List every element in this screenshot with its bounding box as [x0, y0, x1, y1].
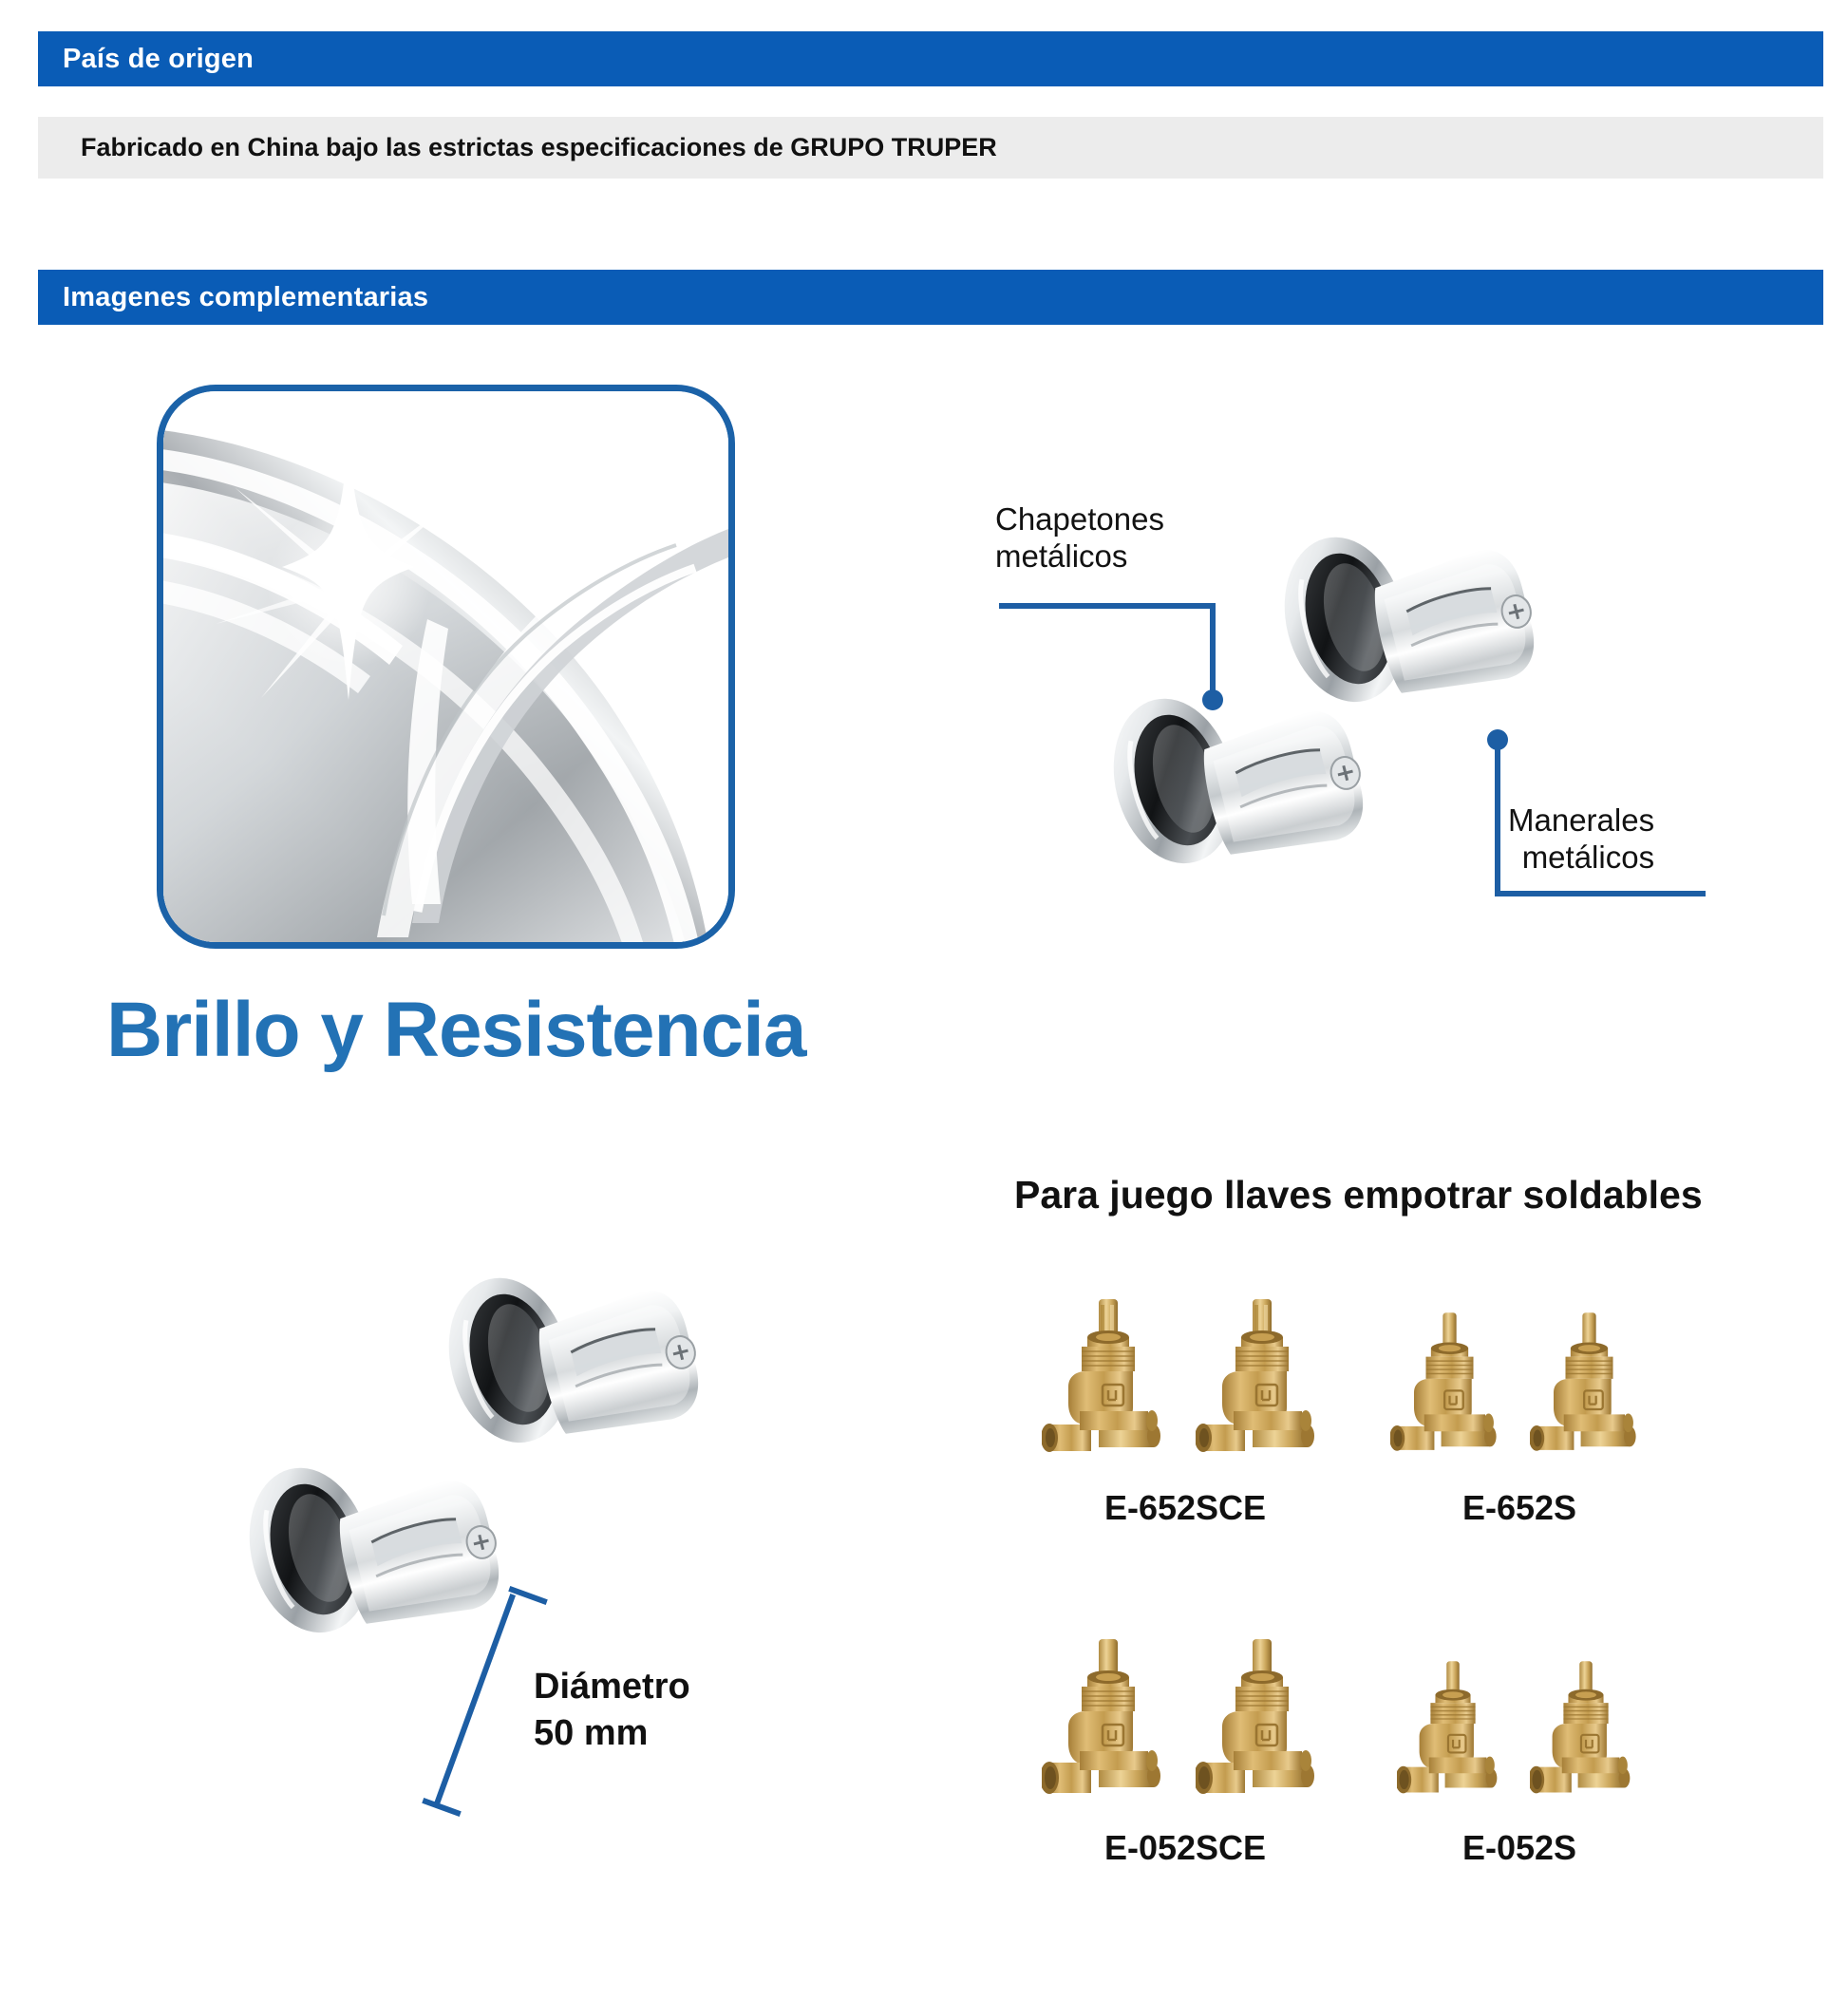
valve-code: E-052S [1358, 1828, 1681, 1868]
valve-code: E-652S [1358, 1488, 1681, 1528]
valves-heading: Para juego llaves empotrar soldables [1014, 1173, 1703, 1217]
brass-valve-icon [1358, 1292, 1681, 1458]
valve-code: E-652SCE [1024, 1488, 1347, 1528]
valve-group: E-652SCE [1024, 1292, 1347, 1528]
brass-valve-icon [1024, 1632, 1347, 1798]
section-banner-imagenes: Imagenes complementarias [38, 270, 1823, 325]
origin-note-row: Fabricado en China bajo las estrictas es… [38, 117, 1823, 179]
dimension-cap-bottom [422, 1798, 462, 1817]
brass-valve-icon [1358, 1632, 1681, 1798]
origin-note-text: Fabricado en China bajo las estrictas es… [38, 133, 997, 162]
brass-valve-icon [1024, 1292, 1347, 1458]
product-sheet-page: País de origen Fabricado en China bajo l… [0, 0, 1848, 2000]
leader-dot-chapetones [1202, 689, 1223, 710]
valve-code: E-052SCE [1024, 1828, 1347, 1868]
chrome-shine-icon [157, 385, 735, 949]
valve-group: E-652S [1358, 1292, 1681, 1528]
leader-line-chapetones-vertical [1210, 603, 1216, 698]
dimension-label: Diámetro 50 mm [534, 1664, 690, 1756]
section-banner-origen: País de origen [38, 31, 1823, 86]
faucet-handle-icon [1071, 665, 1385, 912]
leader-line-chapetones-horizontal [999, 603, 1216, 609]
faucet-handle-icon [207, 1434, 520, 1681]
callout-label-chapetones: Chapetones metálicos [995, 501, 1164, 575]
page-headline: Brillo y Resistencia [106, 986, 806, 1075]
leader-line-manerales-vertical [1495, 736, 1500, 896]
section-banner-imagenes-title: Imagenes complementarias [38, 282, 428, 313]
valve-group: E-052SCE [1024, 1632, 1347, 1868]
callout-label-manerales: Manerales metálicos [1508, 802, 1654, 877]
leader-line-manerales-horizontal [1495, 891, 1706, 896]
section-banner-origen-title: País de origen [38, 44, 254, 75]
valve-group: E-052S [1358, 1632, 1681, 1868]
